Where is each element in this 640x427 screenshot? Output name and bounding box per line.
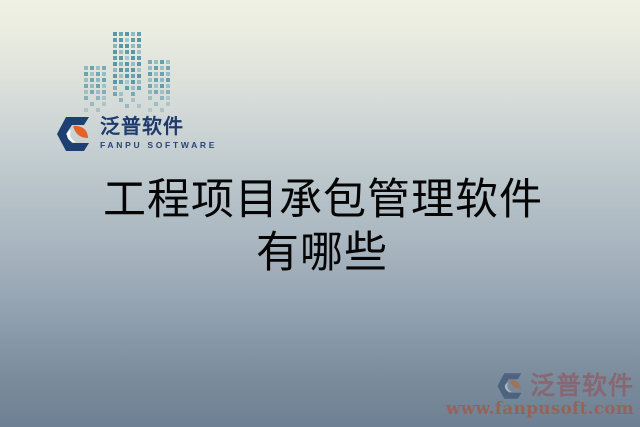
slide-canvas: 泛普软件 FANPU SOFTWARE 工程项目承包管理软件 有哪些 泛普软件 … — [0, 0, 640, 427]
brand-text-block: 泛普软件 FANPU SOFTWARE — [100, 117, 217, 150]
page-title: 工程项目承包管理软件 有哪些 — [0, 174, 640, 280]
watermark: 泛普软件 www.fanpusoft.com — [446, 371, 634, 419]
brand-name-cn: 泛普软件 — [100, 117, 217, 138]
brand-logo: 泛普软件 FANPU SOFTWARE — [55, 114, 217, 154]
brand-name-en: FANPU SOFTWARE — [100, 141, 217, 150]
dot-matrix-skyline-icon — [82, 28, 178, 114]
watermark-url: www.fanpusoft.com — [446, 399, 634, 419]
watermark-brand-name: 泛普软件 — [530, 374, 634, 399]
page-title-line-1: 工程项目承包管理软件 — [0, 174, 640, 227]
watermark-fanpu-hexagon-swoosh-logo-icon — [496, 371, 526, 401]
fanpu-hexagon-swoosh-logo-icon — [55, 114, 95, 154]
page-title-line-2: 有哪些 — [0, 227, 640, 280]
watermark-brand-row: 泛普软件 — [496, 371, 634, 401]
